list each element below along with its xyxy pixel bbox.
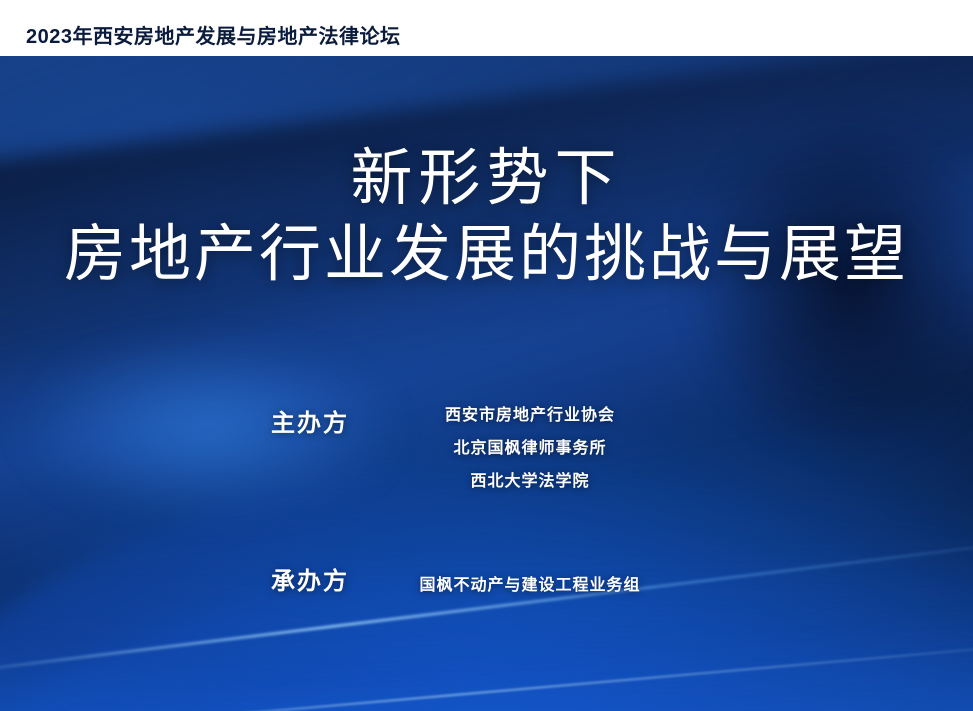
host-value-2: 北京国枫律师事务所	[320, 432, 740, 465]
slide-title: 新形势下 房地产行业发展的挑战与展望	[0, 142, 973, 294]
host-values: 西安市房地产行业协会 北京国枫律师事务所 西北大学法学院	[320, 399, 740, 498]
host-value-3: 西北大学法学院	[320, 465, 740, 498]
slide-content: 新形势下 房地产行业发展的挑战与展望 主办方 西安市房地产行业协会 北京国枫律师…	[0, 56, 973, 711]
forum-title: 2023年西安房地产发展与房地产法律论坛	[26, 20, 401, 49]
slide-title-line-2: 房地产行业发展的挑战与展望	[0, 216, 973, 294]
co-host-values: 国枫不动产与建设工程业务组	[320, 569, 740, 602]
presentation-slide: 2023年西安房地产发展与房地产法律论坛 新形势下 房地产行业发展的挑战与展望 …	[0, 0, 973, 711]
slide-title-line-1: 新形势下	[0, 142, 973, 216]
co-host-value-1: 国枫不动产与建设工程业务组	[320, 569, 740, 602]
slide-artwork: 新形势下 房地产行业发展的挑战与展望 主办方 西安市房地产行业协会 北京国枫律师…	[0, 56, 973, 711]
host-value-1: 西安市房地产行业协会	[320, 399, 740, 432]
header-band: 2023年西安房地产发展与房地产法律论坛	[0, 0, 973, 56]
